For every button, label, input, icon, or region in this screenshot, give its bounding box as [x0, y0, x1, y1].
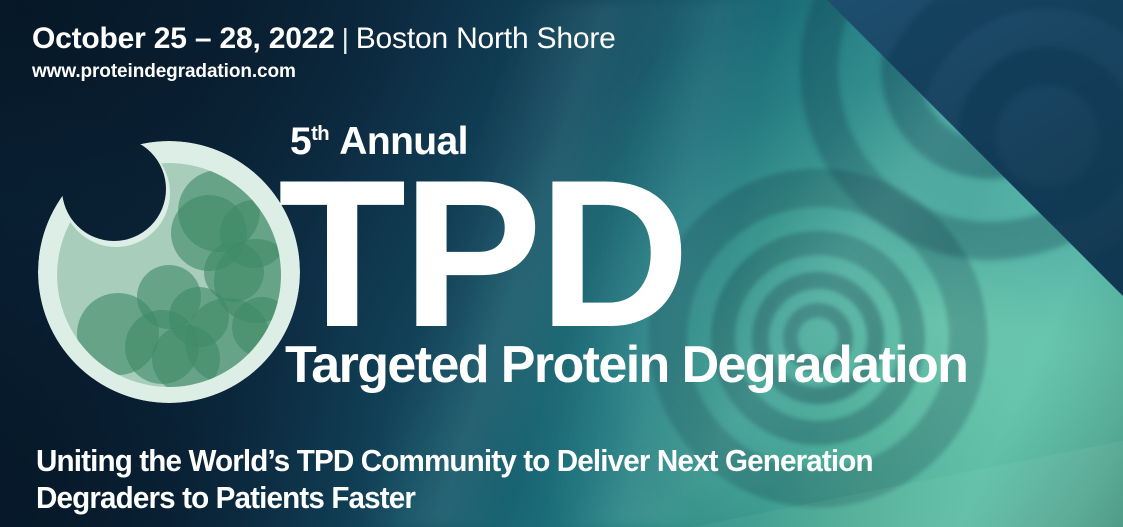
event-tagline: Uniting the World’s TPD Community to Del… — [36, 442, 1048, 516]
event-location: Boston North Shore — [356, 22, 616, 55]
tpd-acronym: TPD — [278, 168, 967, 340]
tagline-line-1: Uniting the World’s TPD Community to Del… — [36, 442, 1048, 479]
event-website[interactable]: www.proteindegradation.com — [32, 59, 616, 85]
tpd-cell-logo-icon — [38, 141, 300, 403]
header-separator: | — [335, 23, 356, 54]
tpd-wordmark: 5th Annual TPD Targeted Protein Degradat… — [284, 120, 967, 394]
event-header: October 25 – 28, 2022|Boston North Shore… — [32, 20, 616, 85]
conference-banner: October 25 – 28, 2022|Boston North Shore… — [0, 0, 1123, 527]
event-date-location: October 25 – 28, 2022|Boston North Shore — [32, 20, 616, 58]
event-date: October 25 – 28, 2022 — [32, 22, 335, 55]
tagline-line-2: Degraders to Patients Faster — [36, 479, 1048, 516]
banner-content: October 25 – 28, 2022|Boston North Shore… — [0, 0, 1123, 527]
tpd-expansion: Targeted Protein Degradation — [285, 336, 967, 394]
